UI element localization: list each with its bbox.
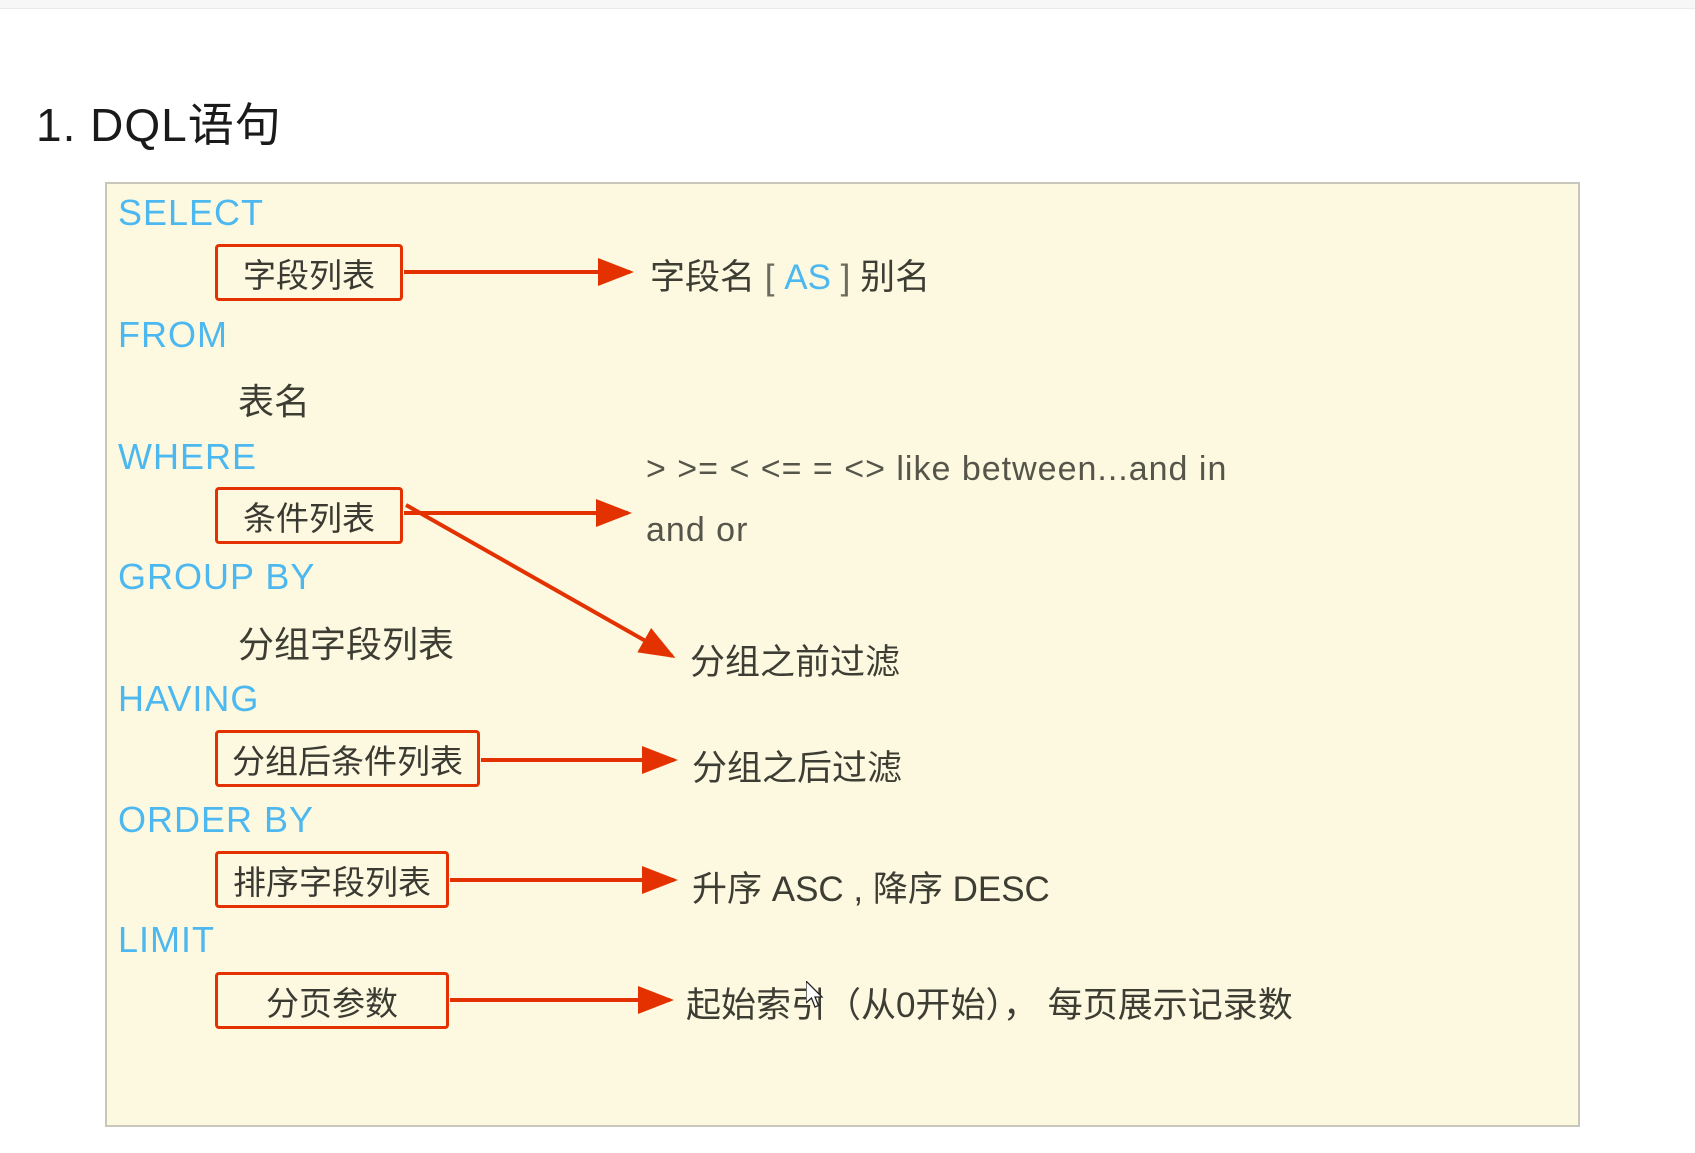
box-order-field-list[interactable]: 排序字段列表 [215, 851, 449, 908]
keyword-select: SELECT [118, 192, 264, 234]
note-field-alias-alias: 别名 [860, 258, 930, 297]
box-field-list[interactable]: 字段列表 [215, 244, 403, 301]
note-field-alias-name: 字段名 [650, 258, 755, 297]
bracket-close-icon: ] [841, 258, 851, 297]
note-keyword-as: AS [784, 258, 831, 297]
keyword-group-by: GROUP BY [118, 556, 315, 598]
keyword-having: HAVING [118, 678, 259, 720]
page-title: 1. DQL语句 [36, 89, 282, 155]
keyword-order-by: ORDER BY [118, 799, 314, 841]
keyword-where: WHERE [118, 436, 257, 478]
keyword-from: FROM [118, 314, 228, 356]
keyword-limit: LIMIT [118, 919, 215, 961]
box-condition-list[interactable]: 条件列表 [215, 487, 403, 544]
note-sort-direction: 升序 ASC , 降序 DESC [692, 861, 1050, 912]
note-operators-line-1: > >= < <= = <> like between...and in [646, 450, 1227, 489]
operand-group-field-list: 分组字段列表 [238, 616, 454, 668]
note-operators-line-2: and or [646, 511, 748, 550]
window-bottom-strip [0, 1141, 1695, 1153]
operand-table-name: 表名 [238, 373, 310, 425]
window-top-strip [0, 0, 1695, 9]
box-paging-params[interactable]: 分页参数 [215, 972, 449, 1029]
bracket-open-icon: [ [765, 258, 775, 297]
note-filter-before-group: 分组之前过滤 [690, 634, 900, 685]
box-having-condition[interactable]: 分组后条件列表 [215, 730, 480, 787]
note-filter-after-group: 分组之后过滤 [692, 740, 902, 791]
note-paging-description: 起始索引（从0开始）， 每页展示记录数 [686, 977, 1293, 1028]
note-field-alias: 字段名 [ AS ] 别名 [650, 249, 930, 300]
